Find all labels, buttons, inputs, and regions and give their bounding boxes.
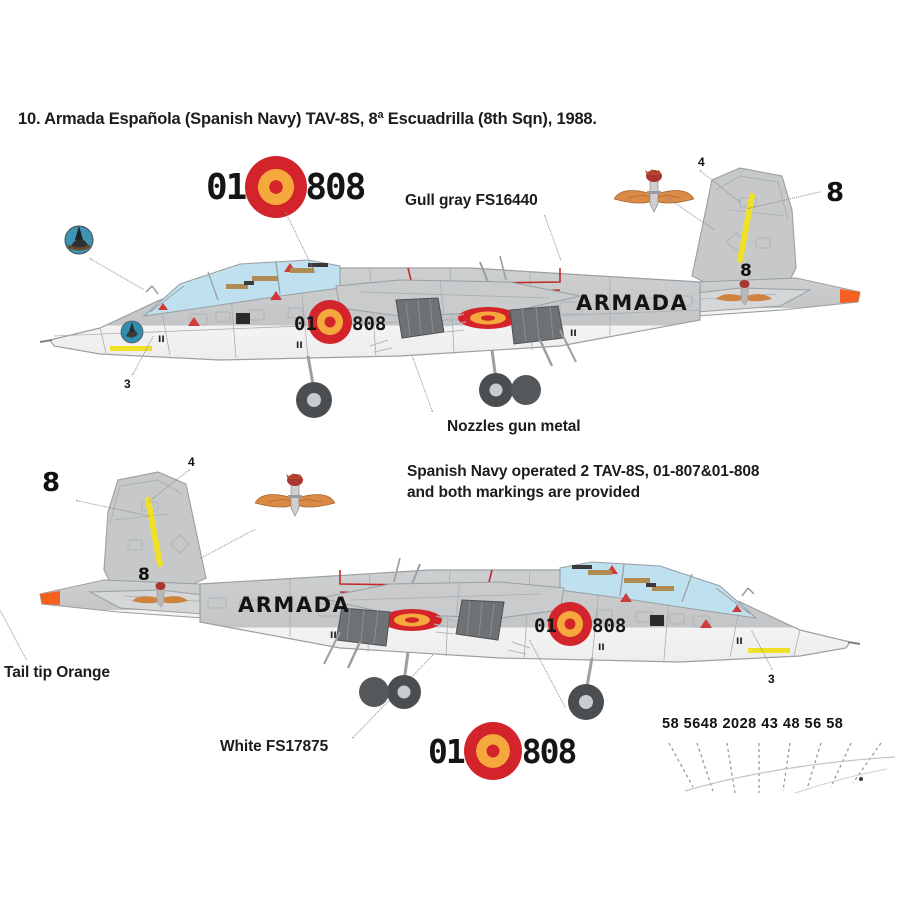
svg-text:II: II (598, 643, 605, 653)
decal-instruction-sheet: 10. Armada Española (Spanish Navy) TAV-8… (0, 0, 900, 900)
svg-text:II: II (570, 329, 577, 339)
dark-panel (236, 313, 250, 324)
page-title: 10. Armada Española (Spanish Navy) TAV-8… (18, 110, 597, 129)
label-ref-4-top: 4 (698, 155, 705, 169)
tail-fin: 8 (104, 472, 206, 588)
armada-text-bottom: ARMADA (238, 593, 350, 617)
label-tail-number-top: 8 (826, 178, 844, 208)
armada-text-top: ARMADA (576, 291, 688, 315)
fuselage-code-suffix: 808 (592, 615, 626, 637)
fuselage-code-prefix: 01 (534, 615, 557, 637)
label-ref-4-bottom: 4 (188, 455, 195, 469)
top-aircraft-profile: 8 (40, 150, 870, 450)
label-ref-3-top: 3 (124, 377, 131, 391)
scale-fan-diagram (655, 735, 900, 815)
svg-text:II: II (736, 637, 743, 647)
dark-panel (650, 615, 664, 626)
wing-roundel-icon (458, 307, 518, 329)
bottom-aircraft-profile: 8 (10, 450, 870, 740)
yellow-nose-stripe (748, 648, 790, 653)
callout-white: White FS17875 (220, 738, 328, 756)
fuselage-code-suffix: 808 (352, 313, 386, 335)
naval-wings-badge-icon-bottom (255, 468, 335, 524)
fin-number: 8 (740, 261, 752, 281)
nose-squadron-badge-icon (121, 321, 143, 343)
svg-text:II: II (330, 631, 337, 641)
squadron-badge-icon-top (60, 222, 98, 264)
svg-text:II: II (158, 335, 165, 345)
wing-roundel-icon (382, 609, 442, 631)
label-ref-3-bottom: 3 (768, 672, 775, 686)
tail-fin: 8 (692, 168, 796, 286)
fuselage-code-prefix: 01 (294, 313, 317, 335)
label-tail-number-bottom: 8 (42, 468, 60, 498)
svg-text:II: II (296, 341, 303, 351)
naval-wings-badge-icon-top (614, 164, 694, 220)
